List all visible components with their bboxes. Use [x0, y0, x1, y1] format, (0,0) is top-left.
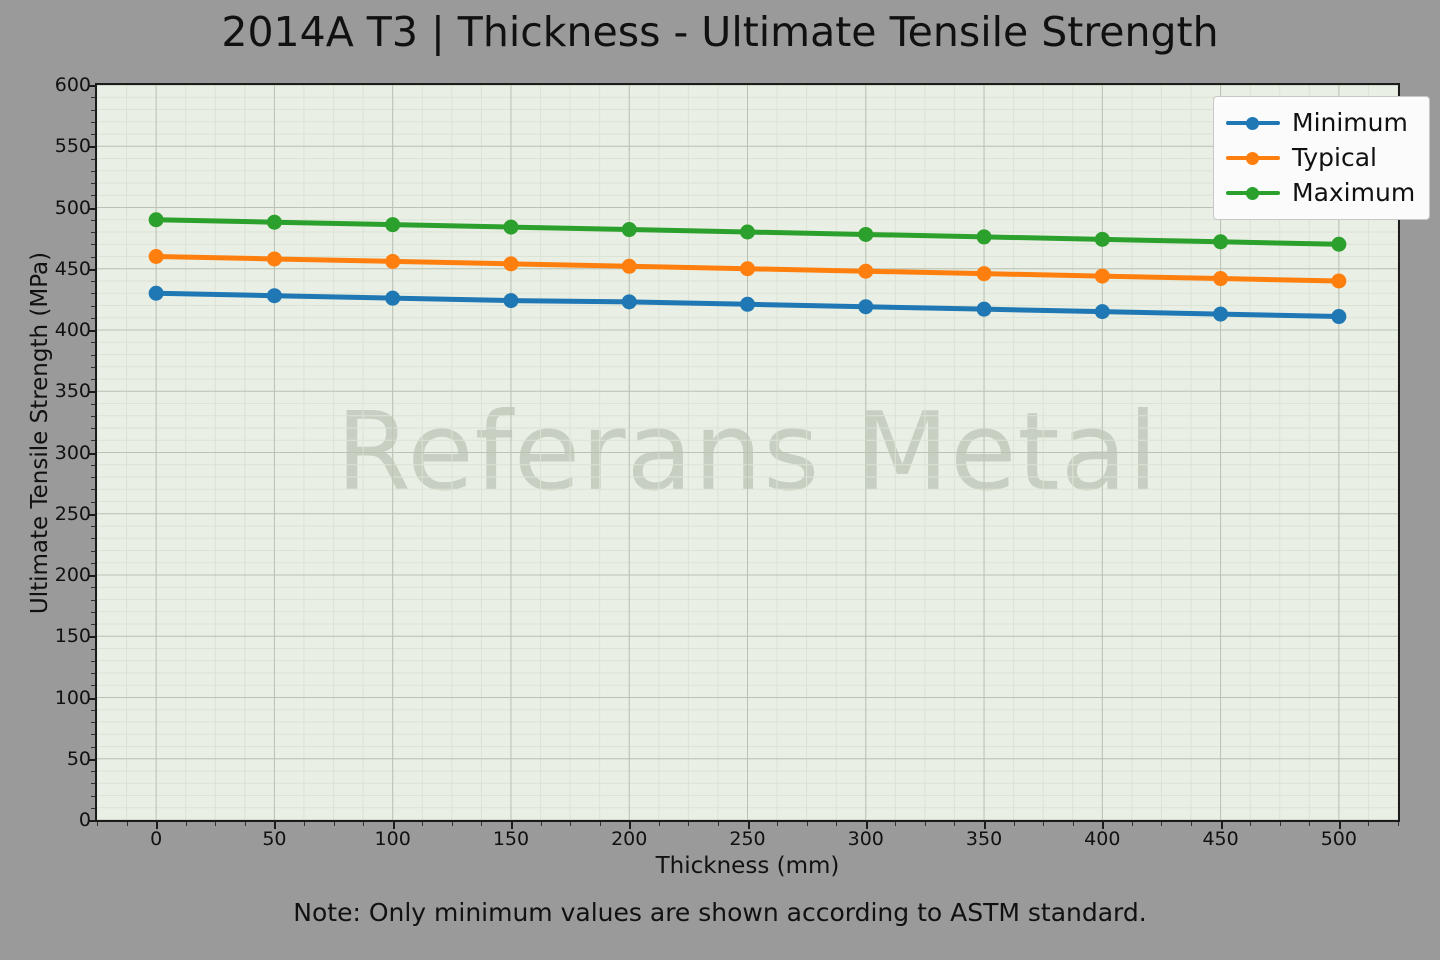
data-point-minimum: [1095, 304, 1110, 319]
x-tick-label: 150: [471, 828, 551, 850]
x-tick-mark-minor: [541, 822, 542, 826]
y-tick-mark-minor: [91, 747, 95, 748]
x-tick-mark-major: [866, 822, 868, 829]
y-tick-mark-minor: [91, 587, 95, 588]
data-point-maximum: [977, 229, 992, 244]
chart-figure: 2014A T3 | Thickness - Ultimate Tensile …: [0, 0, 1440, 960]
y-tick-mark-minor: [91, 624, 95, 625]
x-tick-mark-minor: [422, 822, 423, 826]
y-tick-mark-minor: [91, 551, 95, 552]
legend-label: Typical: [1292, 143, 1377, 172]
y-tick-mark-minor: [91, 110, 95, 111]
y-tick-mark-minor: [91, 477, 95, 478]
y-tick-mark-minor: [91, 673, 95, 674]
data-point-minimum: [1331, 309, 1346, 324]
y-tick-mark-major: [88, 514, 95, 516]
legend-label: Minimum: [1292, 108, 1408, 137]
y-tick-mark-minor: [91, 281, 95, 282]
legend-swatch-icon: [1226, 113, 1280, 133]
x-tick-mark-minor: [1368, 822, 1369, 826]
data-point-minimum: [267, 288, 282, 303]
x-tick-mark-minor: [97, 822, 98, 826]
data-point-maximum: [1331, 237, 1346, 252]
x-tick-mark-minor: [334, 822, 335, 826]
y-tick-mark-minor: [91, 97, 95, 98]
legend-swatch-icon: [1226, 183, 1280, 203]
y-tick-mark-minor: [91, 379, 95, 380]
x-tick-mark-minor: [127, 822, 128, 826]
data-point-maximum: [622, 222, 637, 237]
data-point-typical: [503, 256, 518, 271]
x-tick-mark-minor: [718, 822, 719, 826]
y-tick-mark-minor: [91, 318, 95, 319]
data-point-maximum: [1095, 232, 1110, 247]
chart-legend: MinimumTypicalMaximum: [1213, 96, 1430, 220]
y-tick-mark-minor: [91, 244, 95, 245]
x-tick-mark-major: [748, 822, 750, 829]
y-tick-mark-minor: [91, 440, 95, 441]
y-tick-mark-major: [88, 759, 95, 761]
x-tick-mark-minor: [1398, 822, 1399, 826]
y-tick-mark-minor: [91, 489, 95, 490]
x-tick-mark-major: [156, 822, 158, 829]
y-tick-label: 0: [0, 809, 91, 831]
y-tick-mark-major: [88, 698, 95, 700]
data-point-typical: [1213, 271, 1228, 286]
legend-swatch-icon: [1226, 148, 1280, 168]
y-tick-mark-minor: [91, 159, 95, 160]
y-tick-mark-major: [88, 391, 95, 393]
x-tick-mark-minor: [1014, 822, 1015, 826]
x-tick-mark-minor: [600, 822, 601, 826]
y-tick-mark-major: [88, 330, 95, 332]
x-tick-mark-major: [984, 822, 986, 829]
y-tick-mark-minor: [91, 710, 95, 711]
data-point-typical: [385, 254, 400, 269]
x-tick-mark-minor: [245, 822, 246, 826]
y-tick-mark-minor: [91, 771, 95, 772]
x-tick-mark-minor: [807, 822, 808, 826]
x-tick-mark-minor: [925, 822, 926, 826]
y-tick-mark-minor: [91, 404, 95, 405]
x-tick-mark-major: [1221, 822, 1223, 829]
y-tick-mark-minor: [91, 465, 95, 466]
y-tick-mark-minor: [91, 122, 95, 123]
data-point-minimum: [977, 302, 992, 317]
data-point-typical: [149, 249, 164, 264]
x-tick-mark-minor: [304, 822, 305, 826]
y-tick-mark-minor: [91, 502, 95, 503]
x-tick-mark-minor: [1309, 822, 1310, 826]
y-tick-mark-minor: [91, 563, 95, 564]
data-point-maximum: [267, 215, 282, 230]
x-tick-label: 250: [708, 828, 788, 850]
x-tick-mark-minor: [1161, 822, 1162, 826]
y-tick-mark-minor: [91, 293, 95, 294]
y-axis-label: Ultimate Tensile Strength (MPa): [27, 63, 53, 803]
x-tick-mark-minor: [1191, 822, 1192, 826]
y-tick-mark-minor: [91, 367, 95, 368]
x-tick-mark-minor: [688, 822, 689, 826]
x-tick-mark-minor: [1043, 822, 1044, 826]
x-tick-mark-minor: [363, 822, 364, 826]
x-tick-mark-minor: [570, 822, 571, 826]
x-tick-label: 350: [944, 828, 1024, 850]
y-tick-mark-major: [88, 269, 95, 271]
x-tick-mark-major: [1339, 822, 1341, 829]
x-tick-mark-minor: [452, 822, 453, 826]
y-tick-mark-minor: [91, 416, 95, 417]
y-tick-mark-major: [88, 146, 95, 148]
y-tick-mark-minor: [91, 183, 95, 184]
chart-title: 2014A T3 | Thickness - Ultimate Tensile …: [0, 8, 1440, 56]
series-lines: [149, 212, 1347, 324]
y-tick-mark-minor: [91, 232, 95, 233]
y-tick-mark-minor: [91, 734, 95, 735]
x-tick-label: 400: [1062, 828, 1142, 850]
y-tick-mark-minor: [91, 783, 95, 784]
data-point-minimum: [149, 286, 164, 301]
y-tick-mark-minor: [91, 526, 95, 527]
y-tick-mark-minor: [91, 355, 95, 356]
data-point-typical: [1095, 269, 1110, 284]
x-tick-mark-minor: [1073, 822, 1074, 826]
data-point-typical: [1331, 274, 1346, 289]
y-tick-mark-minor: [91, 134, 95, 135]
x-tick-mark-minor: [215, 822, 216, 826]
x-axis-label: Thickness (mm): [95, 853, 1400, 879]
y-tick-mark-minor: [91, 538, 95, 539]
y-tick-mark-minor: [91, 171, 95, 172]
x-tick-mark-minor: [481, 822, 482, 826]
y-tick-mark-minor: [91, 808, 95, 809]
y-tick-mark-minor: [91, 342, 95, 343]
y-tick-mark-minor: [91, 685, 95, 686]
data-point-maximum: [858, 227, 873, 242]
x-tick-mark-minor: [1280, 822, 1281, 826]
data-point-typical: [858, 264, 873, 279]
x-tick-mark-major: [629, 822, 631, 829]
data-point-minimum: [622, 294, 637, 309]
y-tick-mark-minor: [91, 600, 95, 601]
x-tick-mark-minor: [895, 822, 896, 826]
x-tick-mark-minor: [1250, 822, 1251, 826]
x-tick-label: 50: [234, 828, 314, 850]
data-point-typical: [977, 266, 992, 281]
data-point-minimum: [1213, 307, 1228, 322]
y-tick-mark-major: [88, 85, 95, 87]
plot-svg: [97, 85, 1398, 820]
data-point-maximum: [149, 212, 164, 227]
chart-note: Note: Only minimum values are shown acco…: [0, 898, 1440, 927]
y-tick-mark-major: [88, 453, 95, 455]
data-point-typical: [267, 251, 282, 266]
data-point-maximum: [385, 217, 400, 232]
y-tick-mark-minor: [91, 722, 95, 723]
data-point-minimum: [740, 297, 755, 312]
x-tick-mark-minor: [954, 822, 955, 826]
x-tick-mark-minor: [836, 822, 837, 826]
data-point-minimum: [503, 293, 518, 308]
x-tick-label: 100: [353, 828, 433, 850]
y-tick-mark-major: [88, 636, 95, 638]
x-tick-label: 450: [1181, 828, 1261, 850]
x-tick-label: 500: [1299, 828, 1379, 850]
y-tick-mark-minor: [91, 195, 95, 196]
y-tick-mark-minor: [91, 257, 95, 258]
x-tick-mark-minor: [777, 822, 778, 826]
x-tick-mark-major: [274, 822, 276, 829]
x-tick-mark-minor: [659, 822, 660, 826]
data-point-minimum: [385, 291, 400, 306]
y-tick-mark-minor: [91, 649, 95, 650]
x-tick-mark-minor: [1132, 822, 1133, 826]
data-point-minimum: [858, 299, 873, 314]
y-tick-mark-minor: [91, 612, 95, 613]
legend-item-typical[interactable]: Typical: [1226, 140, 1415, 175]
x-tick-mark-major: [1102, 822, 1104, 829]
data-point-maximum: [1213, 234, 1228, 249]
legend-item-minimum[interactable]: Minimum: [1226, 105, 1415, 140]
x-tick-label: 300: [826, 828, 906, 850]
y-tick-mark-minor: [91, 661, 95, 662]
x-tick-mark-major: [393, 822, 395, 829]
plot-area: Referans Metal: [95, 83, 1400, 822]
data-point-maximum: [740, 225, 755, 240]
data-point-typical: [740, 261, 755, 276]
x-tick-mark-minor: [186, 822, 187, 826]
y-tick-mark-minor: [91, 220, 95, 221]
data-point-typical: [622, 259, 637, 274]
x-tick-label: 0: [116, 828, 196, 850]
data-point-maximum: [503, 220, 518, 235]
y-tick-mark-minor: [91, 796, 95, 797]
legend-item-maximum[interactable]: Maximum: [1226, 175, 1415, 210]
x-tick-label: 200: [589, 828, 669, 850]
y-tick-mark-major: [88, 208, 95, 210]
legend-label: Maximum: [1292, 178, 1415, 207]
x-tick-mark-major: [511, 822, 513, 829]
y-tick-mark-minor: [91, 306, 95, 307]
y-tick-mark-minor: [91, 428, 95, 429]
y-tick-mark-major: [88, 575, 95, 577]
y-tick-mark-major: [88, 820, 95, 822]
